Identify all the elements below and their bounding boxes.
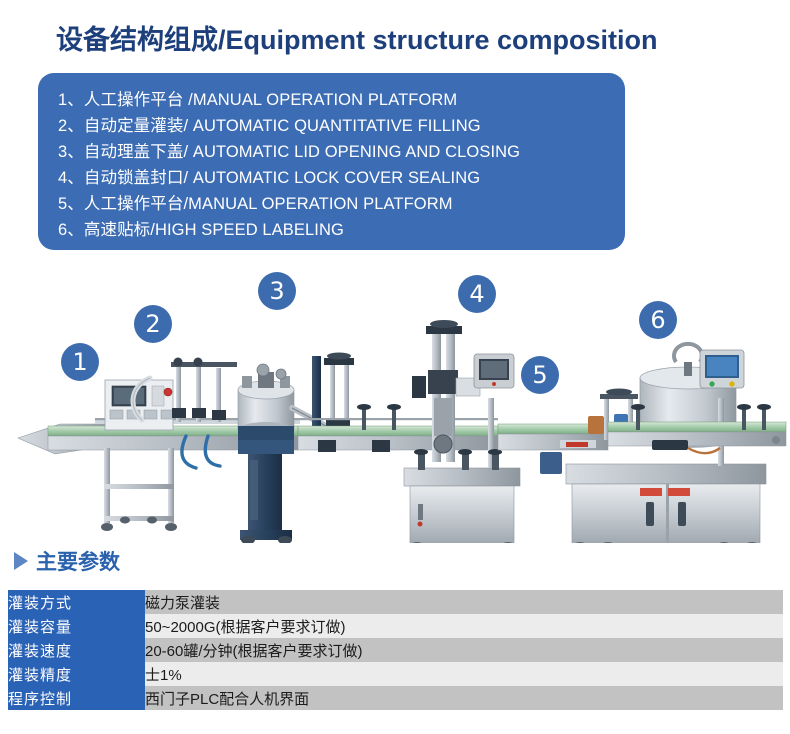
callout-badge-2: 2 — [134, 305, 172, 343]
callout-badge-5: 5 — [521, 356, 559, 394]
param-value: 50~2000G(根据客户要求订做) — [145, 614, 783, 638]
list-item: 2、自动定量灌装/ AUTOMATIC QUANTITATIVE FILLING — [58, 113, 625, 139]
list-item: 3、自动理盖下盖/ AUTOMATIC LID OPENING AND CLOS… — [58, 139, 625, 165]
param-value: 西门子PLC配合人机界面 — [145, 686, 783, 710]
production-line-illustration — [0, 258, 790, 543]
param-value: 士1% — [145, 662, 783, 686]
param-label: 程序控制 — [8, 686, 145, 710]
list-item: 4、自动锁盖封口/ AUTOMATIC LOCK COVER SEALING — [58, 165, 625, 191]
table-row: 灌装方式 磁力泵灌装 — [8, 590, 783, 614]
param-label: 灌装精度 — [8, 662, 145, 686]
table-row: 灌装精度 士1% — [8, 662, 783, 686]
param-value: 20-60罐/分钟(根据客户要求订做) — [145, 638, 783, 662]
production-line-image — [0, 258, 790, 543]
list-item: 6、高速贴标/HIGH SPEED LABELING — [58, 217, 625, 243]
callout-badge-3: 3 — [258, 272, 296, 310]
list-item: 1、人工操作平台 /MANUAL OPERATION PLATFORM — [58, 87, 625, 113]
param-label: 灌装速度 — [8, 638, 145, 662]
table-row: 灌装速度 20-60罐/分钟(根据客户要求订做) — [8, 638, 783, 662]
callout-badge-4: 4 — [458, 275, 496, 313]
param-value: 磁力泵灌装 — [145, 590, 783, 614]
page-title: 设备结构组成/Equipment structure composition — [56, 18, 658, 57]
table-row: 灌装容量 50~2000G(根据客户要求订做) — [8, 614, 783, 638]
table-row: 程序控制 西门子PLC配合人机界面 — [8, 686, 783, 710]
triangle-marker-icon — [14, 552, 28, 570]
param-label: 灌装容量 — [8, 614, 145, 638]
callout-badge-1: 1 — [61, 343, 99, 381]
list-item: 5、人工操作平台/MANUAL OPERATION PLATFORM — [58, 191, 625, 217]
param-label: 灌装方式 — [8, 590, 145, 614]
main-parameters-heading: 主要参数 — [14, 546, 120, 576]
section-title: 主要参数 — [36, 546, 120, 576]
equipment-structure-list: 1、人工操作平台 /MANUAL OPERATION PLATFORM 2、自动… — [38, 73, 625, 250]
parameters-table: 灌装方式 磁力泵灌装 灌装容量 50~2000G(根据客户要求订做) 灌装速度 … — [8, 590, 783, 710]
callout-badge-6: 6 — [639, 301, 677, 339]
